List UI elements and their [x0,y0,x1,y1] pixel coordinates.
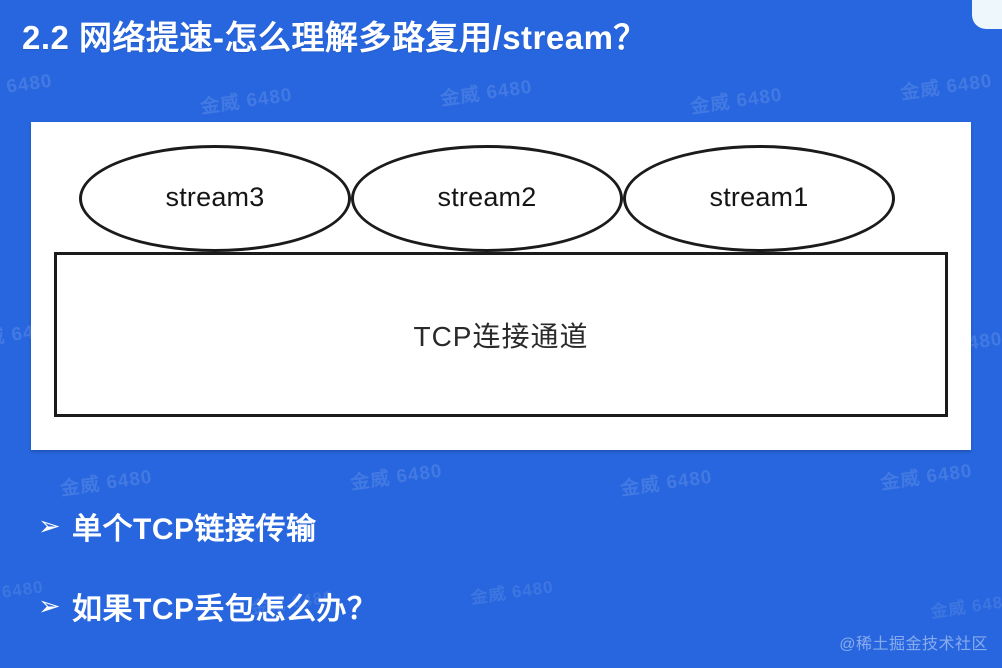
corner-notch [972,0,1002,29]
stream-label: stream1 [710,182,809,213]
watermark-tile: 金威 6480 [439,72,534,112]
arrow-bullet-icon: ➢ [38,593,72,620]
credit-watermark: @稀土掘金技术社区 [839,630,988,654]
watermark-tile: 金威 6480 [879,456,974,496]
watermark-tile: 金威 6480 [199,80,294,120]
page-title: 2.2 网络提速-怎么理解多路复用/stream？ [22,11,647,59]
bullet-list: ➢ 单个TCP链接传输 ➢ 如果TCP丢包怎么办？ [38,505,638,665]
stream-label: stream3 [166,182,265,213]
slide-canvas: 金威 6480 金威 6480 金威 6480 金威 6480 金威 6480 … [0,0,1002,668]
watermark-tile: 金威 6480 [899,66,994,106]
bullet-item-2: ➢ 如果TCP丢包怎么办？ [38,585,638,627]
watermark-tile: 金威 6480 [349,456,444,496]
bullet-text: 单个TCP链接传输 [72,504,317,548]
watermark-tile: 金威 6480 [689,80,784,120]
bullet-text: 如果TCP丢包怎么办？ [72,584,378,628]
watermark-tile: 金威 6480 [59,462,154,502]
bullet-item-1: ➢ 单个TCP链接传输 [38,505,638,547]
diagram-panel: TCP连接通道 stream3 stream2 stream1 [31,122,971,450]
watermark-tile: 金威 6480 [0,66,54,106]
watermark-tile: 金威 6480 [929,586,1002,622]
stream-node-2: stream2 [351,145,623,252]
tcp-channel-box: TCP连接通道 [54,252,948,417]
stream-node-3: stream3 [79,145,351,252]
watermark-tile: 金威 6480 [619,462,714,502]
stream-node-1: stream1 [623,145,895,252]
tcp-channel-label: TCP连接通道 [413,315,588,355]
arrow-bullet-icon: ➢ [38,513,72,540]
stream-label: stream2 [438,182,537,213]
